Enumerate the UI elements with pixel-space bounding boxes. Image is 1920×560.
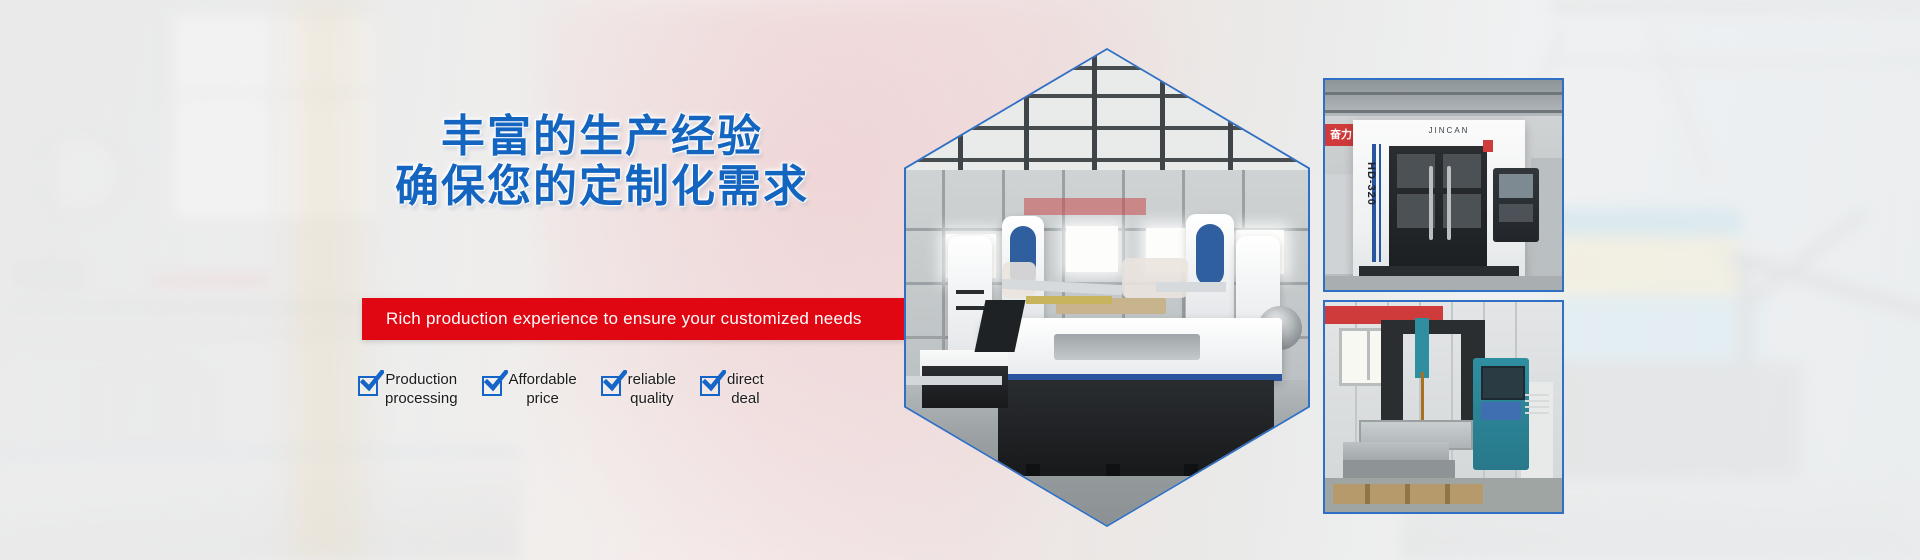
machine-model-label: HD-320 xyxy=(1357,162,1377,220)
factory-scene xyxy=(906,50,1308,525)
headline-line-2: 确保您的定制化需求 xyxy=(352,162,852,212)
hexagon-photo xyxy=(906,50,1308,525)
wall-sign xyxy=(1024,198,1146,215)
feature-item-reliable-quality: reliablequality xyxy=(601,370,676,408)
subtitle-text: Rich production experience to ensure you… xyxy=(362,309,862,329)
subtitle-banner: Rich production experience to ensure you… xyxy=(362,298,905,340)
feature-label: reliablequality xyxy=(628,370,676,408)
feature-item-direct-deal: directdeal xyxy=(700,370,764,408)
page-title: 丰富的生产经验 确保您的定制化需求 xyxy=(352,112,852,212)
thumbnail-machining-center[interactable]: 奋力 HD-320 JINCAN xyxy=(1323,78,1564,292)
feature-item-production-processing: Productionprocessing xyxy=(358,370,458,408)
machine-brand-label: JINCAN xyxy=(1421,126,1477,135)
thumbnail-gantry-edm[interactable] xyxy=(1323,300,1564,514)
checkbox-checked-icon xyxy=(358,376,378,396)
feature-label: Productionprocessing xyxy=(385,370,458,408)
checkbox-checked-icon xyxy=(601,376,621,396)
checkbox-checked-icon xyxy=(700,376,720,396)
feature-list: Productionprocessing Affordableprice rel… xyxy=(358,370,878,422)
feature-item-affordable-price: Affordableprice xyxy=(482,370,577,408)
promotional-banner: 丰富的生产经验 确保您的定制化需求 Rich production experi… xyxy=(0,0,1920,560)
headline-line-1: 丰富的生产经验 xyxy=(352,112,852,162)
hero-image-hexagon xyxy=(904,48,1310,527)
feature-label: Affordableprice xyxy=(509,370,577,408)
checkbox-checked-icon xyxy=(482,376,502,396)
feature-label: directdeal xyxy=(727,370,764,408)
